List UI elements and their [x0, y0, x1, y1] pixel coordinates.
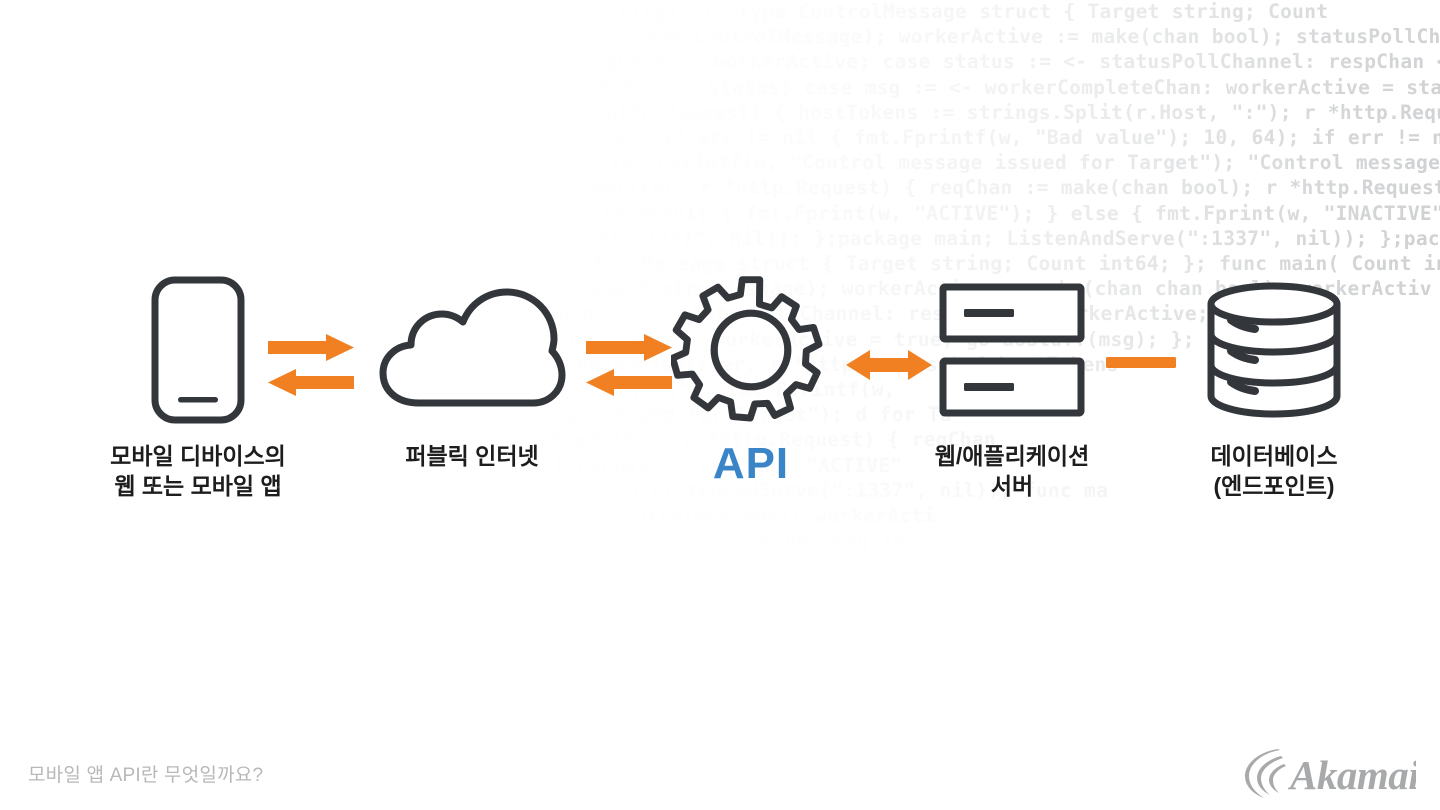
diagram-node-label: 퍼블릭 인터넷: [322, 441, 622, 471]
double-headed-arrow-icon: [846, 348, 932, 382]
akamai-wordmark: Akamai: [1287, 752, 1416, 798]
connector-api-to-server: [846, 348, 932, 387]
plain-line-icon: [1106, 355, 1176, 371]
connector-internet-to-api: [586, 334, 672, 401]
akamai-wave-icon: [1245, 749, 1286, 798]
connector-mobile-to-internet: [268, 334, 354, 401]
connector-server-to-database: [1106, 355, 1176, 376]
diagram-node-label: 데이터베이스 (엔드포인트): [1150, 441, 1398, 502]
cloud-icon: [322, 275, 622, 425]
diagram-node-label: 웹/애플리케이션 서버: [888, 441, 1136, 502]
diagram-node-app-server[interactable]: 웹/애플리케이션 서버: [888, 275, 1136, 502]
page-caption: 모바일 앱 API란 무엇일까요?: [28, 760, 263, 787]
diagram-canvas: ndlers ); var ( reqChan = make(chan stri…: [0, 0, 1440, 810]
diagram-node-public-internet[interactable]: 퍼블릭 인터넷: [322, 275, 622, 471]
database-icon: [1150, 275, 1398, 425]
bidirectional-stacked-arrows-icon: [586, 334, 672, 396]
diagram-node-label: API: [628, 435, 874, 493]
diagram-node-database[interactable]: 데이터베이스 (엔드포인트): [1150, 275, 1398, 502]
akamai-logo: Akamai: [1240, 742, 1416, 804]
bidirectional-stacked-arrows-icon: [268, 334, 354, 396]
diagram-node-label: 모바일 디바이스의 웹 또는 모바일 앱: [48, 441, 348, 502]
api-flow-diagram: 모바일 디바이스의 웹 또는 모바일 앱 퍼블릭 인터넷: [0, 0, 1440, 810]
